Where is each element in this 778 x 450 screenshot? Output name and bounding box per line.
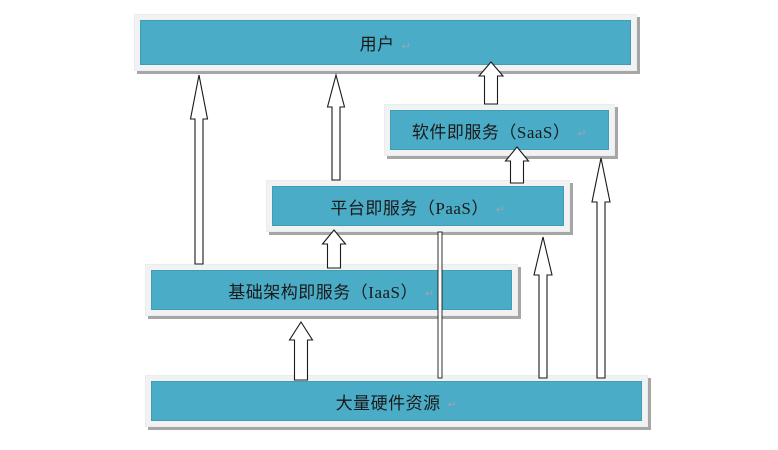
pilcrow-mark: ↵ — [496, 204, 506, 216]
box-iaas-label: 基础架构即服务（IaaS）↵ — [228, 278, 434, 303]
box-iaas-fill: 基础架构即服务（IaaS）↵ — [151, 270, 512, 310]
pilcrow-mark: ↵ — [425, 288, 435, 300]
box-user-fill: 用户↵ — [140, 20, 631, 65]
pilcrow-mark: ↵ — [448, 399, 458, 411]
pilcrow-mark: ↵ — [577, 128, 587, 140]
box-saas-fill: 软件即服务（SaaS）↵ — [390, 110, 609, 150]
box-user-label: 用户↵ — [360, 30, 412, 55]
arrow-paas-to-user — [328, 75, 345, 180]
arrow-hardware-to-saas — [592, 158, 610, 378]
pilcrow-mark: ↵ — [402, 41, 412, 53]
box-paas-label: 平台即服务（PaaS）↵ — [330, 194, 505, 219]
box-paas[interactable]: 平台即服务（PaaS）↵ — [266, 180, 570, 232]
arrow-hardware-to-iaas — [290, 322, 313, 380]
box-saas-label: 软件即服务（SaaS）↵ — [412, 118, 587, 143]
box-paas-fill: 平台即服务（PaaS）↵ — [272, 186, 564, 226]
box-iaas[interactable]: 基础架构即服务（IaaS）↵ — [145, 264, 518, 316]
box-saas[interactable]: 软件即服务（SaaS）↵ — [384, 104, 615, 156]
box-user[interactable]: 用户↵ — [134, 14, 637, 71]
arrow-hardware-to-paas — [534, 237, 552, 378]
arrow-iaas-to-user — [191, 75, 208, 264]
box-hardware-fill: 大量硬件资源↵ — [151, 381, 642, 421]
arrow-iaas-to-paas — [323, 230, 346, 268]
diagram-canvas: 用户↵ 软件即服务（SaaS）↵ 平台即服务（PaaS）↵ 基础架构即服务（Ia… — [0, 0, 778, 450]
box-hardware-label: 大量硬件资源↵ — [336, 389, 458, 414]
box-hardware[interactable]: 大量硬件资源↵ — [145, 375, 648, 427]
